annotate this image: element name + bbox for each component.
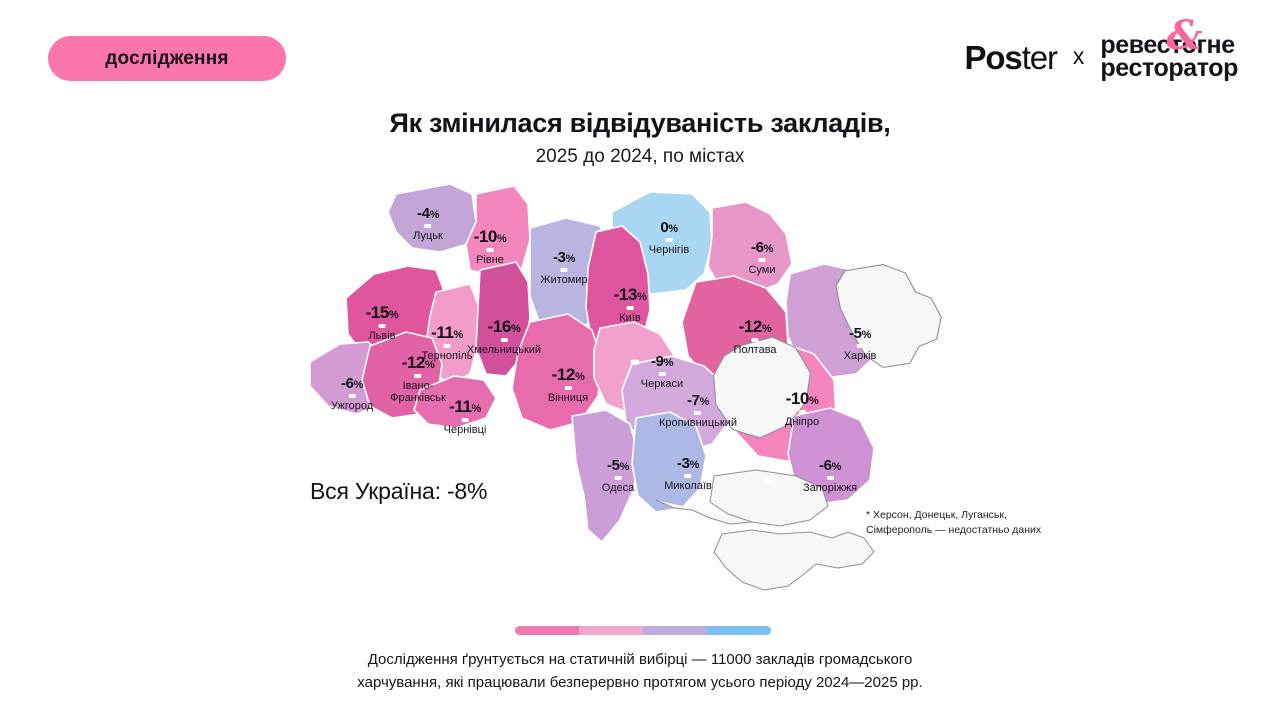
legend-segment-2 xyxy=(643,626,707,635)
color-scale-legend xyxy=(515,626,771,635)
poster-logo-bold: Pos xyxy=(964,39,1021,76)
legend-segment-3 xyxy=(707,626,771,635)
no-data-footnote-line2: Сімферополь — недостатньо даних xyxy=(866,523,1041,538)
no-data-footnote-line1: * Херсон, Донецьк, Луганськ, xyxy=(866,508,1041,523)
page-subtitle: 2025 до 2024, по містах xyxy=(0,146,1280,168)
partner-logo-line2: ресторатор xyxy=(1100,57,1238,80)
brand-bar: Poster x ревестогне ресторатор & xyxy=(964,34,1238,80)
poster-logo-light: ter xyxy=(1022,39,1057,76)
region-volyn[interactable] xyxy=(388,184,476,252)
methodology-line2: харчування, які працювали безперервно пр… xyxy=(0,671,1280,694)
methodology-line1: Дослідження ґрунтується на статичній виб… xyxy=(0,648,1280,671)
poster-logo: Poster xyxy=(964,41,1056,74)
partner-logo: ревестогне ресторатор & xyxy=(1100,34,1238,80)
research-badge-label: дослідження xyxy=(105,48,228,70)
region-crimea xyxy=(714,530,874,590)
methodology-footer: Дослідження ґрунтується на статичній виб… xyxy=(0,648,1280,695)
research-badge[interactable]: дослідження xyxy=(48,36,286,81)
legend-segment-0 xyxy=(515,626,579,635)
ukraine-choropleth-map: -4%Луцьк-10%Рівне-3%Житомир0%Чернігів-6%… xyxy=(300,178,960,608)
page-title: Як змінилася відвідуваність закладів, xyxy=(0,108,1280,139)
no-data-footnote: * Херсон, Донецьк, Луганськ, Сімферополь… xyxy=(866,508,1041,538)
city-marker-icon-0 xyxy=(631,360,639,365)
national-total: Вся Україна: -8% xyxy=(310,478,487,505)
legend-segment-1 xyxy=(579,626,643,635)
region-mykolaiv[interactable] xyxy=(632,412,706,512)
region-rivne[interactable] xyxy=(466,186,530,276)
region-odesa[interactable] xyxy=(572,410,638,542)
brand-separator: x xyxy=(1071,43,1087,72)
city-marker-icon-1 xyxy=(766,478,774,483)
map-svg xyxy=(300,178,960,608)
